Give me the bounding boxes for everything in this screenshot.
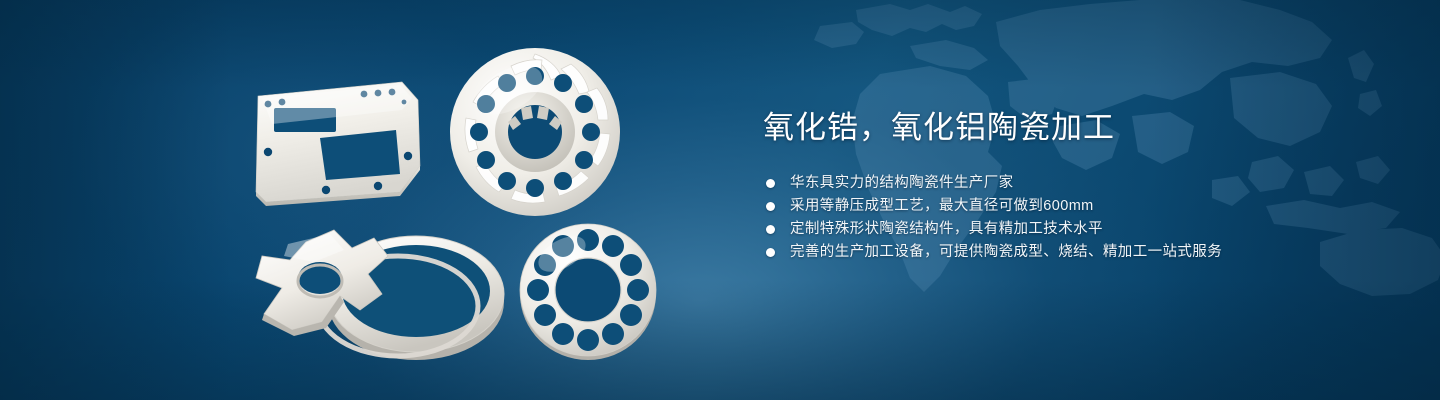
list-item: 采用等静压成型工艺，最大直径可做到600mm [766,199,1383,214]
list-item: 定制特殊形状陶瓷结构件，具有精加工技术水平 [766,222,1383,237]
page-title: 氧化锆，氧化铝陶瓷加工 [763,106,1383,150]
list-item-label: 定制特殊形状陶瓷结构件，具有精加工技术水平 [790,221,1103,237]
list-item-label: 华东具实力的结构陶瓷件生产厂家 [790,175,1014,191]
bullet-dot-icon [766,225,775,234]
list-item-label: 完善的生产加工设备，可提供陶瓷成型、烧结、精加工一站式服务 [790,244,1222,260]
ceramic-impeller-photo [447,44,627,222]
ceramic-plate-photo [252,80,432,205]
bullet-dot-icon [766,179,775,188]
feature-list: 华东具实力的结构陶瓷件生产厂家 采用等静压成型工艺，最大直径可做到600mm 定… [766,176,1383,260]
list-item: 完善的生产加工设备，可提供陶瓷成型、烧结、精加工一站式服务 [766,245,1383,260]
bullet-dot-icon [766,248,775,257]
list-item-label: 采用等静压成型工艺，最大直径可做到600mm [790,198,1094,214]
ceramic-processing-banner: 氧化锆，氧化铝陶瓷加工 华东具实力的结构陶瓷件生产厂家 采用等静压成型工艺，最大… [0,0,1440,400]
ceramic-holed-disc-photo [518,218,660,362]
bullet-dot-icon [766,202,775,211]
ceramic-cross-and-ring-photo [248,222,510,362]
banner-copy: 氧化锆，氧化铝陶瓷加工 华东具实力的结构陶瓷件生产厂家 采用等静压成型工艺，最大… [763,106,1383,260]
list-item: 华东具实力的结构陶瓷件生产厂家 [766,176,1383,191]
